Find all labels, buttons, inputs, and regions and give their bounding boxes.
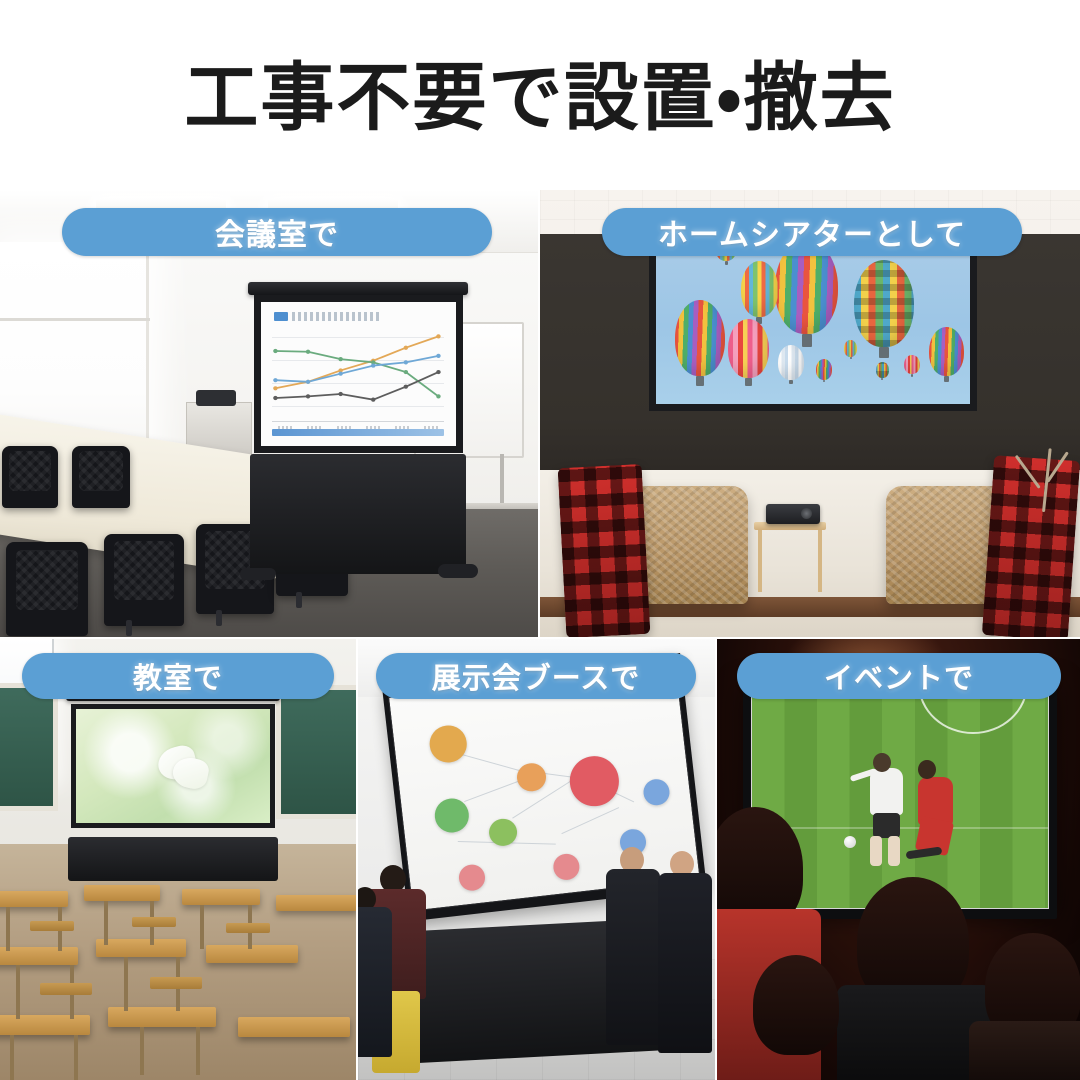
meeting-room-photo <box>0 190 538 637</box>
event-photo <box>717 639 1080 1080</box>
panel-meeting-room: 会議室で <box>0 190 538 637</box>
slide-caption <box>76 811 269 817</box>
visitor-dark <box>358 907 392 1057</box>
badge-label: イベントで <box>824 655 974 697</box>
panel-classroom: 教室で <box>0 639 356 1080</box>
badge-label: 会議室で <box>215 210 339 254</box>
badge-classroom: 教室で <box>22 653 334 699</box>
audience-shirt <box>969 1021 1080 1080</box>
badge-event: イベントで <box>737 653 1061 699</box>
panel-home-theater: ホームシアターとして <box>540 190 1080 637</box>
page-title: 工事不要で設置・撤去 <box>184 61 895 135</box>
projector-screen-classroom <box>66 691 280 881</box>
projection-surface <box>254 295 463 453</box>
soccer-ball-icon <box>844 836 856 848</box>
chart-slide <box>261 302 456 446</box>
badge-label: 展示会ブースで <box>432 655 641 697</box>
scene-grid: 会議室で <box>0 190 1080 1080</box>
chalkboard-left <box>0 683 58 811</box>
audience-member <box>753 955 839 1055</box>
butterfly <box>154 745 220 793</box>
product-feature-image: 工事不要で設置・撤去 <box>0 0 1080 1080</box>
badge-meeting-room: 会議室で <box>62 208 492 256</box>
player-white <box>870 768 903 815</box>
balloons-slide <box>656 230 971 404</box>
decorative-branches <box>1014 426 1074 512</box>
projector-icon <box>766 504 820 524</box>
plaid-blanket-left <box>558 464 651 637</box>
projector-screen-meeting <box>248 282 468 582</box>
attendee <box>658 873 712 1053</box>
badge-label: ホームシアターとして <box>658 210 966 254</box>
panel-event: イベントで <box>717 639 1080 1080</box>
home-theater-photo <box>540 190 1080 637</box>
badge-exhibition-booth: 展示会ブースで <box>376 653 696 699</box>
nature-slide <box>76 709 269 823</box>
presenter <box>606 869 660 1045</box>
badge-home-theater: ホームシアターとして <box>602 208 1022 256</box>
panel-exhibition-booth: 展示会ブースで <box>358 639 715 1080</box>
line-chart-svg <box>272 325 444 414</box>
projection-surface <box>71 704 274 828</box>
classroom-photo <box>0 639 356 1080</box>
chalkboard-right <box>276 685 356 819</box>
badge-label: 教室で <box>133 655 223 697</box>
exhibition-booth-photo <box>358 639 715 1080</box>
header-banner: 工事不要で設置・撤去 <box>0 0 1080 190</box>
